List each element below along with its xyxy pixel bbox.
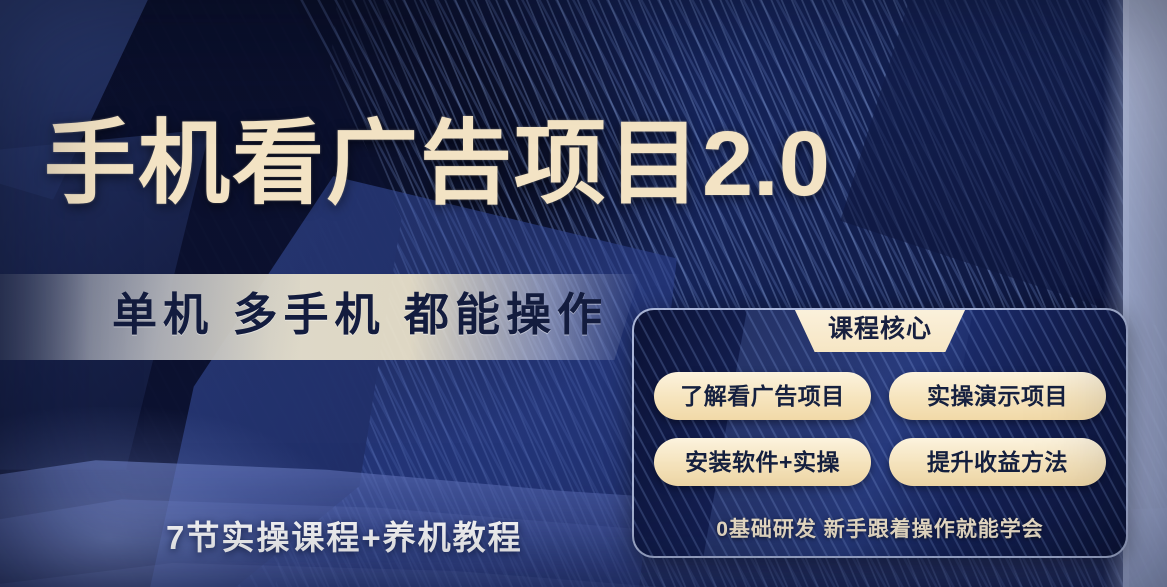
subtitle-text: 单机 多手机 都能操作 <box>112 292 608 337</box>
list-item[interactable]: 实操演示项目 <box>889 372 1106 420</box>
list-item[interactable]: 提升收益方法 <box>889 438 1106 486</box>
pill-label: 安装软件+实操 <box>685 451 840 474</box>
promo-poster: 手机看广告项目2.0 单机 多手机 都能操作 7节实操课程+养机教程 课程核心 … <box>0 0 1167 587</box>
panel-footer-text: 0基础研发 新手跟着操作就能学会 <box>634 519 1126 540</box>
list-item[interactable]: 了解看广告项目 <box>654 372 871 420</box>
panel-header-banner: 课程核心 <box>794 308 966 352</box>
list-item[interactable]: 安装软件+实操 <box>654 438 871 486</box>
headline-version-text: 2.0 <box>702 113 830 215</box>
pill-label: 提升收益方法 <box>927 451 1068 474</box>
course-count-footnote: 7节实操课程+养机教程 <box>166 521 523 554</box>
pill-label: 实操演示项目 <box>927 385 1068 408</box>
course-feature-list: 了解看广告项目 实操演示项目 安装软件+实操 提升收益方法 <box>654 372 1106 486</box>
page-title: 手机看广告项目2.0 <box>44 118 830 210</box>
glow-bottom-left <box>0 407 360 587</box>
right-edge-strip <box>1123 0 1167 587</box>
headline-main-text: 手机看广告项目 <box>44 113 702 215</box>
panel-header-label: 课程核心 <box>828 317 932 344</box>
course-core-panel: 课程核心 了解看广告项目 实操演示项目 安装软件+实操 提升收益方法 0基础研发… <box>632 308 1128 558</box>
pill-label: 了解看广告项目 <box>680 385 845 408</box>
